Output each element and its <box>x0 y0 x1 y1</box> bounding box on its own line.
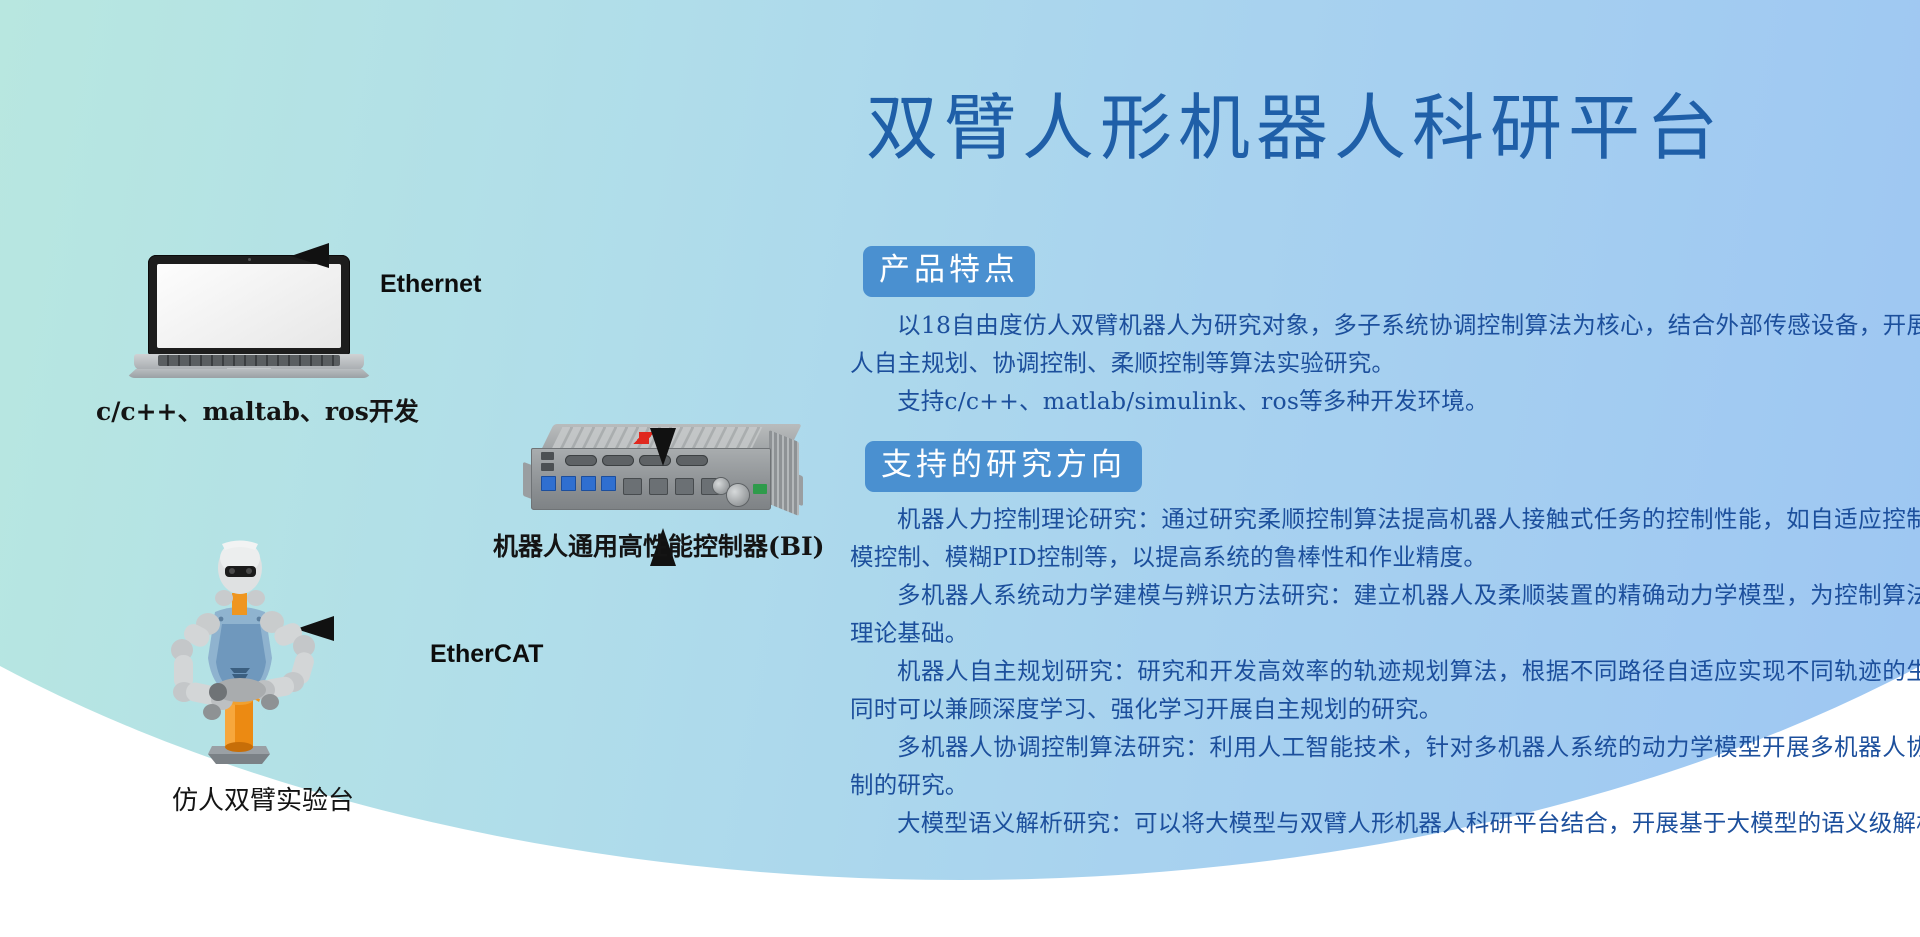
section-badge-directions: 支持的研究方向 <box>865 441 1142 492</box>
direction-paragraph: 大模型语义解析研究：可以将大模型与双臂人形机器人科研平台结合，开展基于大模型的语… <box>850 804 1920 842</box>
direction-paragraph: 机器人自主规划研究：研究和开发高效率的轨迹规划算法，根据不同路径自适应实现不同轨… <box>850 652 1920 728</box>
page-title: 双臂人形机器人科研平台 <box>680 92 1910 164</box>
ethernet-arrow <box>291 243 676 466</box>
features-paragraph: 以18自由度仿人双臂机器人为研究对象，多子系统协调控制算法为核心，结合外部传感设… <box>850 306 1920 382</box>
poster-canvas: c/c++、maltab、ros开发 机器人通用高性能控制器(BI) 仿人双臂实… <box>0 0 1920 937</box>
robot-label: 仿人双臂实验台 <box>172 780 354 817</box>
features-paragraph: 支持c/c++、matlab/simulink、ros等多种开发环境。 <box>850 382 1920 420</box>
direction-paragraph: 多机器人协调控制算法研究：利用人工智能技术，针对多机器人系统的动力学模型开展多机… <box>850 728 1920 804</box>
humanoid-robot-illustration <box>152 540 367 770</box>
ethercat-link-label: EtherCAT <box>430 640 543 669</box>
direction-paragraph: 多机器人系统动力学建模与辨识方法研究：建立机器人及柔顺装置的精确动力学模型，为控… <box>850 576 1920 652</box>
system-diagram: c/c++、maltab、ros开发 机器人通用高性能控制器(BI) 仿人双臂实… <box>0 0 680 937</box>
section-badge-features: 产品特点 <box>863 246 1035 297</box>
content-panel: 双臂人形机器人科研平台 产品特点 以18自由度仿人双臂机器人为研究对象，多子系统… <box>670 0 1920 937</box>
laptop-label: c/c++、maltab、ros开发 <box>96 392 419 428</box>
direction-paragraph: 机器人力控制理论研究：通过研究柔顺控制算法提高机器人接触式任务的控制性能，如自适… <box>850 500 1920 576</box>
ethernet-link-label: Ethernet <box>380 270 481 299</box>
robot-head <box>218 541 262 595</box>
